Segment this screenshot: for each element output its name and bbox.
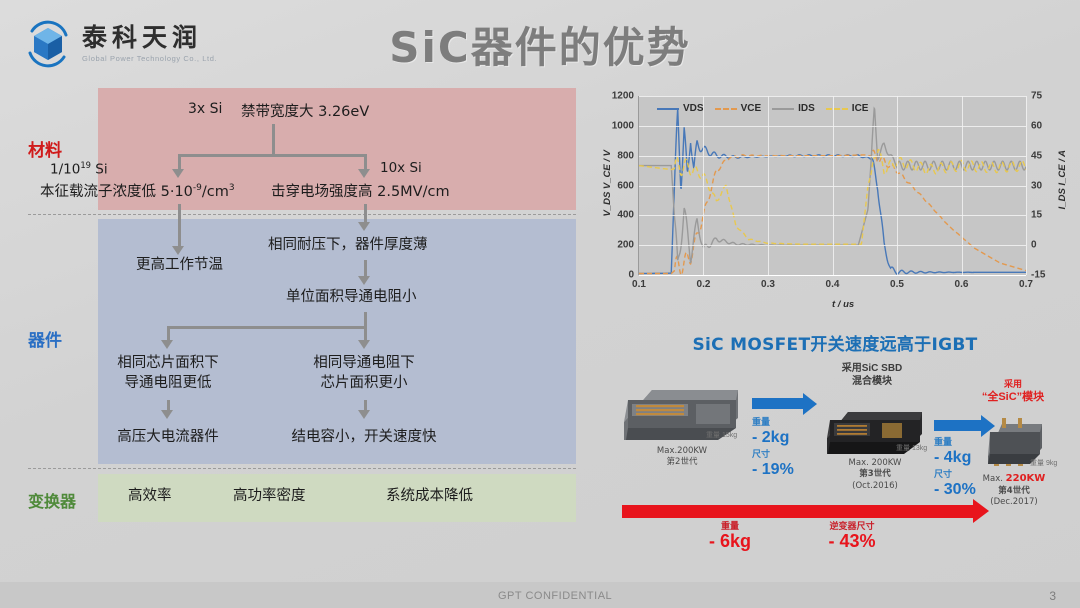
device-leaf-left-2: 导通电阻更低 — [90, 374, 246, 393]
material-left-multiplier: 1/1019 Si — [50, 160, 108, 179]
tag-full-sic-line1: 采用 — [956, 378, 1070, 390]
chart-ytick: 1200 — [612, 91, 634, 102]
chart-ytick: 800 — [617, 150, 634, 161]
chart-y2-axis-label: I_DS I_CE / A — [1057, 150, 1068, 209]
tag-sic-sbd-line2: 混合模块 — [812, 375, 932, 388]
tag-full-sic: 采用 “全SiC”模块 — [956, 378, 1070, 405]
chart-ytick: 600 — [617, 180, 634, 191]
gain-step2-val1: - 4kg — [934, 449, 976, 467]
module-gen4-gen: 第4世代 — [948, 486, 1080, 497]
module-gen4-caption: Max. 220KW 第4世代 (Dec.2017) — [948, 472, 1080, 508]
module-gen4-power-prefix: Max. — [983, 474, 1006, 484]
arrow-leafL-final — [161, 410, 173, 419]
tag-sic-sbd: 采用SiC SBD 混合模块 — [812, 362, 932, 388]
footer-confidential: GPT CONFIDENTIAL — [498, 590, 612, 602]
module-gen3: 重量 13kg Max. 200KW 第3世代 (Oct.2016) — [822, 396, 928, 463]
module-gen3-power: Max. 200KW — [814, 458, 936, 469]
device-right-1: 相同耐压下，器件厚度薄 — [268, 236, 428, 255]
chart-xtick: 0.3 — [761, 279, 775, 290]
module-gen2-weight: 重量 15kg — [706, 430, 737, 440]
module-gen2-gen: 第2世代 — [612, 457, 752, 468]
total-size-val: - 43% — [772, 532, 932, 552]
page-number: 3 — [1049, 589, 1056, 603]
chart-y-axis-label: V_DS V_CE / V — [602, 150, 613, 217]
arrow-gen3-to-gen4 — [934, 420, 982, 431]
module-gen3-gen: 第3世代 — [814, 469, 936, 480]
material-left-text-main: 本征载流子浓度低 5·10 — [40, 184, 193, 200]
gain-step1-val2: - 19% — [752, 461, 794, 479]
converter-item-0: 高效率 — [128, 487, 172, 506]
tag-full-sic-line2: “全SiC”模块 — [956, 390, 1070, 405]
band-label-material: 材料 — [28, 136, 94, 161]
module-gen3-caption: Max. 200KW 第3世代 (Oct.2016) — [814, 458, 936, 492]
chart-xtick: 0.6 — [955, 279, 969, 290]
module-gen2-caption: Max.200KW 第2世代 — [612, 446, 752, 469]
arrow-dev-r1-r2 — [358, 276, 370, 285]
arrow-dev-left — [172, 246, 184, 255]
connector-material-split — [179, 154, 365, 157]
device-left-1: 更高工作节温 — [136, 256, 223, 275]
arrow-leafR-final — [358, 410, 370, 419]
material-right-text: 击穿电场强度高 2.5MV/cm — [271, 183, 450, 202]
module-gen2-power: Max.200KW — [612, 446, 752, 457]
converter-item-2: 系统成本降低 — [386, 487, 473, 506]
module-gen4: 重量 9kg Max. 220KW 第4世代 (Dec.2017) — [980, 412, 1056, 475]
material-left-mult-base: 1/10 — [50, 162, 80, 178]
module-gen4-power-line: Max. 220KW — [948, 472, 1080, 486]
material-left-text-exp: -9 — [193, 183, 202, 193]
modules-heading: SiC MOSFET开关速度远高于IGBT — [600, 330, 1070, 355]
arrow-total-improvement — [622, 505, 974, 518]
chart-gridline-v — [1026, 96, 1027, 275]
module-gen4-weight: 重量 9kg — [1030, 458, 1057, 468]
device-right-2: 单位面积导通电阻小 — [286, 288, 417, 307]
total-size-reduction: 逆变器尺寸 - 43% — [772, 522, 932, 552]
module-gen3-weight: 重量 13kg — [896, 443, 927, 453]
chart-y2tick: 45 — [1031, 150, 1042, 161]
chart-y2tick: 0 — [1031, 240, 1037, 251]
chart-plot-area: VDS VCE IDS ICE 020040060080010001200-15… — [638, 96, 1026, 276]
chart-gridline-v — [833, 96, 834, 275]
connector-dev-split — [168, 326, 366, 329]
device-leaf-left-3: 高压大电流器件 — [80, 428, 256, 447]
divider-material-device — [28, 214, 576, 215]
arrow-material-right — [358, 169, 370, 178]
divider-device-converter — [28, 468, 576, 469]
chart-xtick: 0.4 — [826, 279, 840, 290]
gain-step1-key2: 尺寸 — [752, 450, 794, 460]
chart-y2tick: 60 — [1031, 120, 1042, 131]
module-evolution-graphic: 重量 15kg Max.200KW 第2世代 重量 - 2kg 尺寸 - 19%… — [600, 362, 1070, 562]
material-left-text: 本征载流子浓度低 5·10-9/cm3 — [40, 183, 235, 202]
arrow-material-left — [172, 169, 184, 178]
chart-gridline-v — [962, 96, 963, 275]
material-left-text-tail: /cm — [202, 184, 229, 200]
gain-step1-val1: - 2kg — [752, 429, 794, 447]
slide-root: 泰科天润 Global Power Technology Co., Ltd. S… — [0, 0, 1080, 608]
material-left-mult-exp: 19 — [80, 160, 91, 170]
connector-material-stem — [272, 124, 275, 156]
chart-ytick: 200 — [617, 240, 634, 251]
material-right-multiplier: 10x Si — [380, 160, 422, 178]
band-label-device: 器件 — [28, 326, 94, 351]
chart-y2tick: 30 — [1031, 180, 1042, 191]
connector-dev-left-stem — [178, 204, 181, 248]
material-root-text: 禁带宽度大 3.26eV — [241, 103, 369, 122]
switching-waveform-chart: V_DS V_CE / V I_DS I_CE / A t / us VDS V… — [600, 88, 1070, 310]
chart-ytick: 400 — [617, 210, 634, 221]
device-leaf-right-3: 结电容小，开关速度快 — [276, 428, 452, 447]
material-root-multiplier: 3x Si — [188, 100, 222, 118]
device-leaf-right-2: 芯片面积更小 — [286, 374, 442, 393]
band-label-converter: 变换器 — [28, 488, 94, 512]
chart-y2tick: 15 — [1031, 210, 1042, 221]
chart-gridline-v — [897, 96, 898, 275]
advantages-flow-diagram: 材料 器件 变换器 3x Si 禁带宽度大 3.26eV 1/1019 Si 1… — [28, 88, 576, 553]
arrow-dev-right — [358, 222, 370, 231]
module-gen3-date: (Oct.2016) — [814, 481, 936, 492]
gain-step1: 重量 - 2kg 尺寸 - 19% — [752, 418, 794, 483]
chart-x-axis-label: t / us — [832, 299, 854, 310]
material-left-text-unit-exp: 3 — [229, 183, 235, 193]
chart-xtick: 0.7 — [1019, 279, 1033, 290]
chart-xtick: 0.1 — [632, 279, 646, 290]
module-gen4-power: 220KW — [1006, 473, 1046, 484]
material-left-mult-tail: Si — [91, 162, 108, 178]
chart-y2tick: 75 — [1031, 91, 1042, 102]
device-leaf-right-1: 相同导通电阻下 — [286, 354, 442, 373]
chart-gridline-v — [768, 96, 769, 275]
arrow-gen2-to-gen3 — [752, 398, 804, 409]
chart-y2tick: -15 — [1031, 270, 1045, 281]
gain-step2-key1: 重量 — [934, 438, 976, 448]
device-leaf-left-1: 相同芯片面积下 — [90, 354, 246, 373]
chart-xtick: 0.5 — [890, 279, 904, 290]
gain-step1-key1: 重量 — [752, 418, 794, 428]
chart-ytick: 1000 — [612, 120, 634, 131]
chart-xtick: 0.2 — [697, 279, 711, 290]
module-gen2: 重量 15kg Max.200KW 第2世代 — [618, 370, 746, 453]
tag-sic-sbd-line1: 采用SiC SBD — [812, 362, 932, 375]
arrow-dev-leafL — [161, 340, 173, 349]
chart-gridline-v — [703, 96, 704, 275]
page-title: SiC器件的优势 — [0, 14, 1080, 75]
converter-item-1: 高功率密度 — [233, 487, 306, 506]
arrow-dev-leafR — [358, 340, 370, 349]
